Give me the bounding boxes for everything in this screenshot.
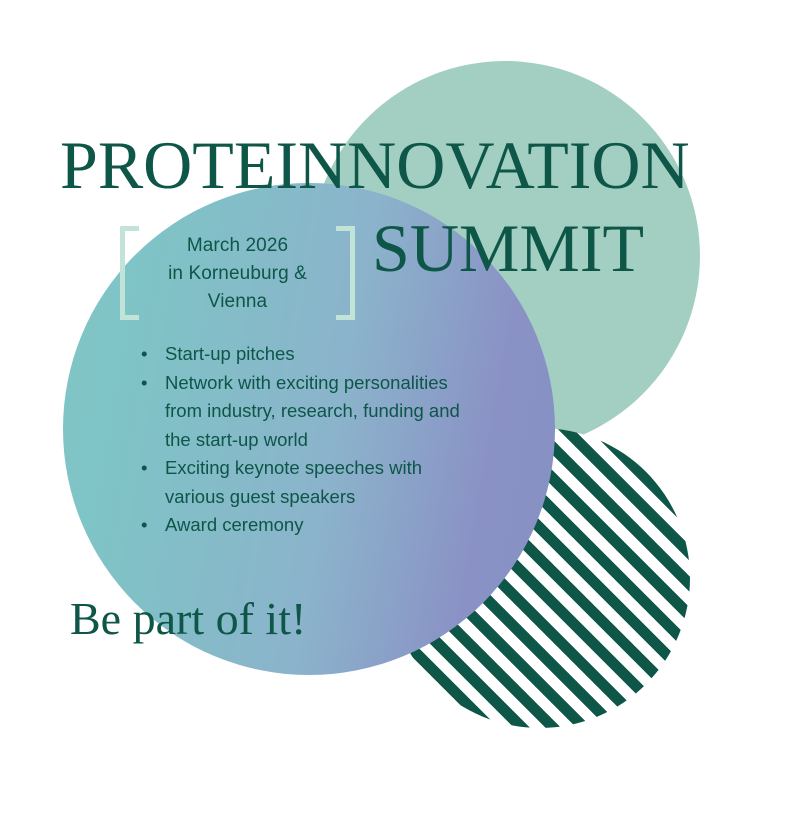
program-list: • Start-up pitches • Network with exciti… — [141, 340, 486, 540]
bullet-dot-icon: • — [141, 454, 165, 483]
bullet-dot-icon: • — [141, 511, 165, 540]
event-location-line-1: in Korneuburg & — [139, 260, 336, 288]
list-item-label: Exciting keynote speeches with various g… — [165, 454, 486, 511]
event-details-text: March 2026 in Korneuburg & Vienna — [139, 232, 336, 316]
list-item-label: Start-up pitches — [165, 340, 486, 369]
bullet-dot-icon: • — [141, 340, 165, 369]
list-item: • Award ceremony — [141, 511, 486, 540]
call-to-action-text: Be part of it! — [70, 596, 306, 642]
poster-content: PROTEINNOVATION SUMMIT March 2026 in Kor… — [0, 0, 800, 818]
poster-canvas: PROTEINNOVATION SUMMIT March 2026 in Kor… — [0, 0, 800, 818]
left-bracket-icon — [120, 226, 139, 320]
event-date: March 2026 — [139, 232, 336, 260]
event-location-line-2: Vienna — [139, 288, 336, 316]
event-details-block: March 2026 in Korneuburg & Vienna — [120, 226, 355, 320]
list-item: • Network with exciting personalities fr… — [141, 369, 486, 455]
list-item-label: Award ceremony — [165, 511, 486, 540]
list-item-label: Network with exciting personalities from… — [165, 369, 486, 455]
bullet-dot-icon: • — [141, 369, 165, 398]
list-item: • Exciting keynote speeches with various… — [141, 454, 486, 511]
list-item: • Start-up pitches — [141, 340, 486, 369]
right-bracket-icon — [336, 226, 355, 320]
headline-line-1: PROTEINNOVATION — [60, 131, 690, 199]
headline-line-2: SUMMIT — [372, 214, 644, 282]
